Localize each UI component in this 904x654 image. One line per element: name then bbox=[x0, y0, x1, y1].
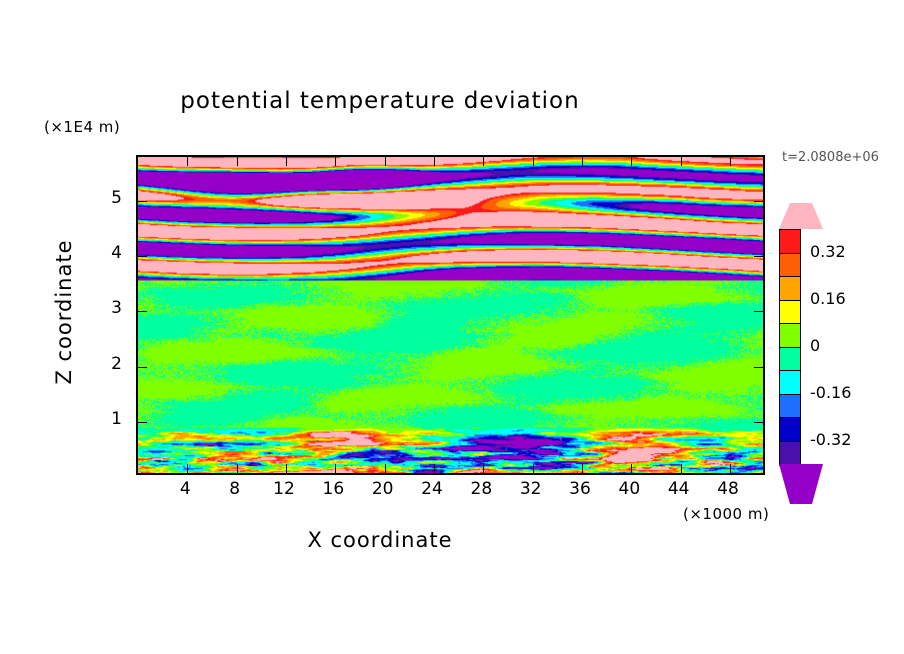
x-tick bbox=[681, 464, 682, 473]
x-tick-label: 8 bbox=[215, 479, 255, 499]
x-tick bbox=[730, 464, 731, 473]
y-axis-unit-label: (×1E4 m) bbox=[44, 118, 120, 136]
x-tick-label: 44 bbox=[659, 479, 699, 499]
x-tick-label: 4 bbox=[165, 479, 205, 499]
x-tick bbox=[631, 464, 632, 473]
colorbar-segment bbox=[779, 394, 801, 419]
colorbar-tick-label: 0.32 bbox=[810, 242, 846, 261]
y-tick bbox=[754, 311, 763, 312]
colorbar-tick-label: -0.16 bbox=[810, 383, 851, 402]
y-tick-label: 1 bbox=[96, 409, 122, 429]
x-tick-label: 16 bbox=[313, 479, 353, 499]
figure-canvas: potential temperature deviation (×1E4 m)… bbox=[0, 0, 904, 654]
x-tick bbox=[533, 464, 534, 473]
x-tick bbox=[434, 464, 435, 473]
colorbar-segment bbox=[779, 417, 801, 442]
x-tick-label: 20 bbox=[363, 479, 403, 499]
colorbar-tick-label: 0 bbox=[810, 336, 820, 355]
x-tick-label: 48 bbox=[708, 479, 748, 499]
y-axis-title: Z coordinate bbox=[52, 232, 76, 392]
contour-plot[interactable] bbox=[136, 155, 765, 475]
y-tick bbox=[138, 422, 147, 423]
x-axis-unit-label: (×1000 m) bbox=[683, 505, 769, 523]
x-tick bbox=[187, 157, 188, 166]
colorbar-segment bbox=[779, 370, 801, 395]
x-tick bbox=[483, 464, 484, 473]
colorbar[interactable] bbox=[779, 229, 801, 464]
x-tick bbox=[533, 157, 534, 166]
x-tick bbox=[385, 464, 386, 473]
x-tick bbox=[335, 464, 336, 473]
y-tick bbox=[754, 367, 763, 368]
x-tick-label: 24 bbox=[412, 479, 452, 499]
y-tick bbox=[754, 256, 763, 257]
x-tick-label: 12 bbox=[264, 479, 304, 499]
y-tick-label: 5 bbox=[96, 188, 122, 208]
x-tick bbox=[483, 157, 484, 166]
x-tick bbox=[335, 157, 336, 166]
x-tick-label: 28 bbox=[461, 479, 501, 499]
y-tick bbox=[138, 256, 147, 257]
colorbar-segment bbox=[779, 300, 801, 325]
x-tick bbox=[434, 157, 435, 166]
colorbar-segment bbox=[779, 323, 801, 348]
y-tick-label: 3 bbox=[96, 298, 122, 318]
colorbar-over-arrow bbox=[779, 203, 823, 229]
colorbar-tick-label: -0.32 bbox=[810, 430, 851, 449]
x-tick bbox=[385, 157, 386, 166]
y-tick-label: 4 bbox=[96, 243, 122, 263]
colorbar-under-arrow bbox=[779, 464, 823, 504]
x-tick bbox=[631, 157, 632, 166]
x-tick bbox=[187, 464, 188, 473]
y-tick bbox=[138, 311, 147, 312]
x-tick bbox=[730, 157, 731, 166]
x-axis-title: X coordinate bbox=[0, 528, 760, 552]
x-tick-label: 40 bbox=[609, 479, 649, 499]
x-tick bbox=[286, 464, 287, 473]
y-tick bbox=[754, 201, 763, 202]
x-tick-label: 32 bbox=[511, 479, 551, 499]
y-tick bbox=[754, 422, 763, 423]
x-tick bbox=[237, 464, 238, 473]
colorbar-segment bbox=[779, 229, 801, 254]
timestamp-label: t=2.0808e+06 bbox=[782, 150, 879, 165]
colorbar-segment bbox=[779, 347, 801, 372]
colorbar-segment bbox=[779, 276, 801, 301]
y-tick bbox=[138, 367, 147, 368]
x-tick bbox=[582, 157, 583, 166]
x-tick-label: 36 bbox=[560, 479, 600, 499]
contour-field bbox=[138, 157, 763, 473]
colorbar-tick-label: 0.16 bbox=[810, 289, 846, 308]
x-tick bbox=[582, 464, 583, 473]
x-tick bbox=[286, 157, 287, 166]
x-tick bbox=[681, 157, 682, 166]
colorbar-segment bbox=[779, 253, 801, 278]
x-tick bbox=[237, 157, 238, 166]
y-tick-label: 2 bbox=[96, 354, 122, 374]
colorbar-segment bbox=[779, 441, 801, 466]
page-title: potential temperature deviation bbox=[0, 88, 760, 114]
y-tick bbox=[138, 201, 147, 202]
